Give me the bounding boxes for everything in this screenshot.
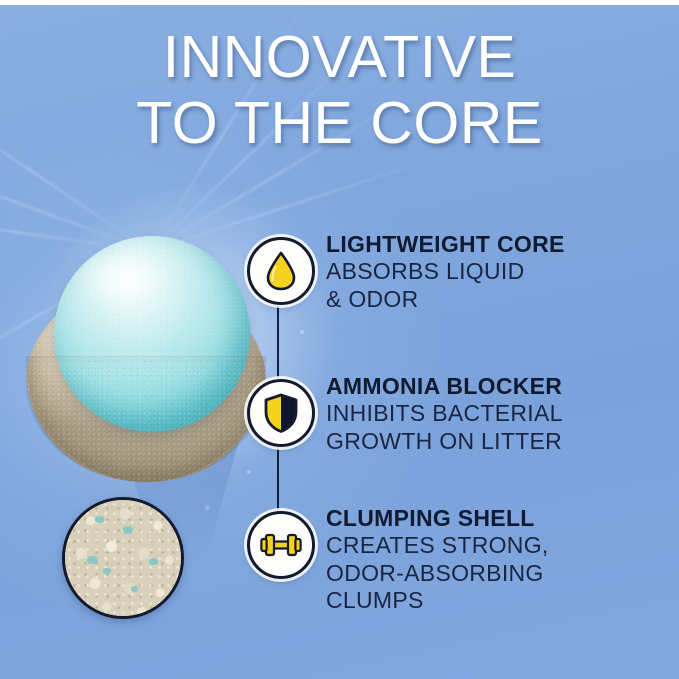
granule-fleck bbox=[149, 558, 158, 565]
connector-line-1 bbox=[277, 300, 279, 378]
feature-body: CREATES STRONG, ODOR-ABSORBING CLUMPS bbox=[326, 532, 656, 615]
feature-badge-clumping-shell bbox=[247, 511, 315, 579]
feature-heading: AMMONIA BLOCKER bbox=[326, 373, 656, 400]
feature-body: ABSORBS LIQUID & ODOR bbox=[326, 258, 656, 313]
feature-text-lightweight-core: LIGHTWEIGHT CORE ABSORBS LIQUID & ODOR bbox=[326, 231, 656, 313]
feature-text-clumping-shell: CLUMPING SHELL CREATES STRONG, ODOR-ABSO… bbox=[326, 505, 656, 615]
feature-badge-ammonia-blocker bbox=[247, 379, 315, 447]
feature-heading: LIGHTWEIGHT CORE bbox=[326, 231, 656, 258]
granule-fleck bbox=[87, 556, 98, 564]
feature-text-ammonia-blocker: AMMONIA BLOCKER INHIBITS BACTERIAL GROWT… bbox=[326, 373, 656, 455]
granules-texture bbox=[65, 500, 181, 616]
feature-body: INHIBITS BACTERIAL GROWTH ON LITTER bbox=[326, 400, 656, 455]
granule-fleck bbox=[103, 568, 111, 574]
top-white-strip bbox=[0, 0, 679, 5]
feature-heading: CLUMPING SHELL bbox=[326, 505, 656, 532]
shield-icon bbox=[263, 393, 299, 433]
connector-line-2 bbox=[277, 442, 279, 511]
granule-fleck bbox=[131, 586, 138, 592]
granule-fleck bbox=[123, 526, 133, 534]
core-highlight bbox=[76, 248, 172, 310]
litter-granules-closeup bbox=[62, 497, 184, 619]
poster-title: INNOVATIVE TO THE CORE bbox=[0, 24, 679, 156]
droplet-icon bbox=[264, 251, 298, 291]
granule-fleck bbox=[95, 516, 104, 523]
feature-badge-lightweight-core bbox=[247, 237, 315, 305]
dumbbell-icon bbox=[260, 532, 302, 558]
cutaway-litter-sphere bbox=[18, 236, 274, 494]
product-infographic: INNOVATIVE TO THE CORE bbox=[0, 0, 679, 679]
